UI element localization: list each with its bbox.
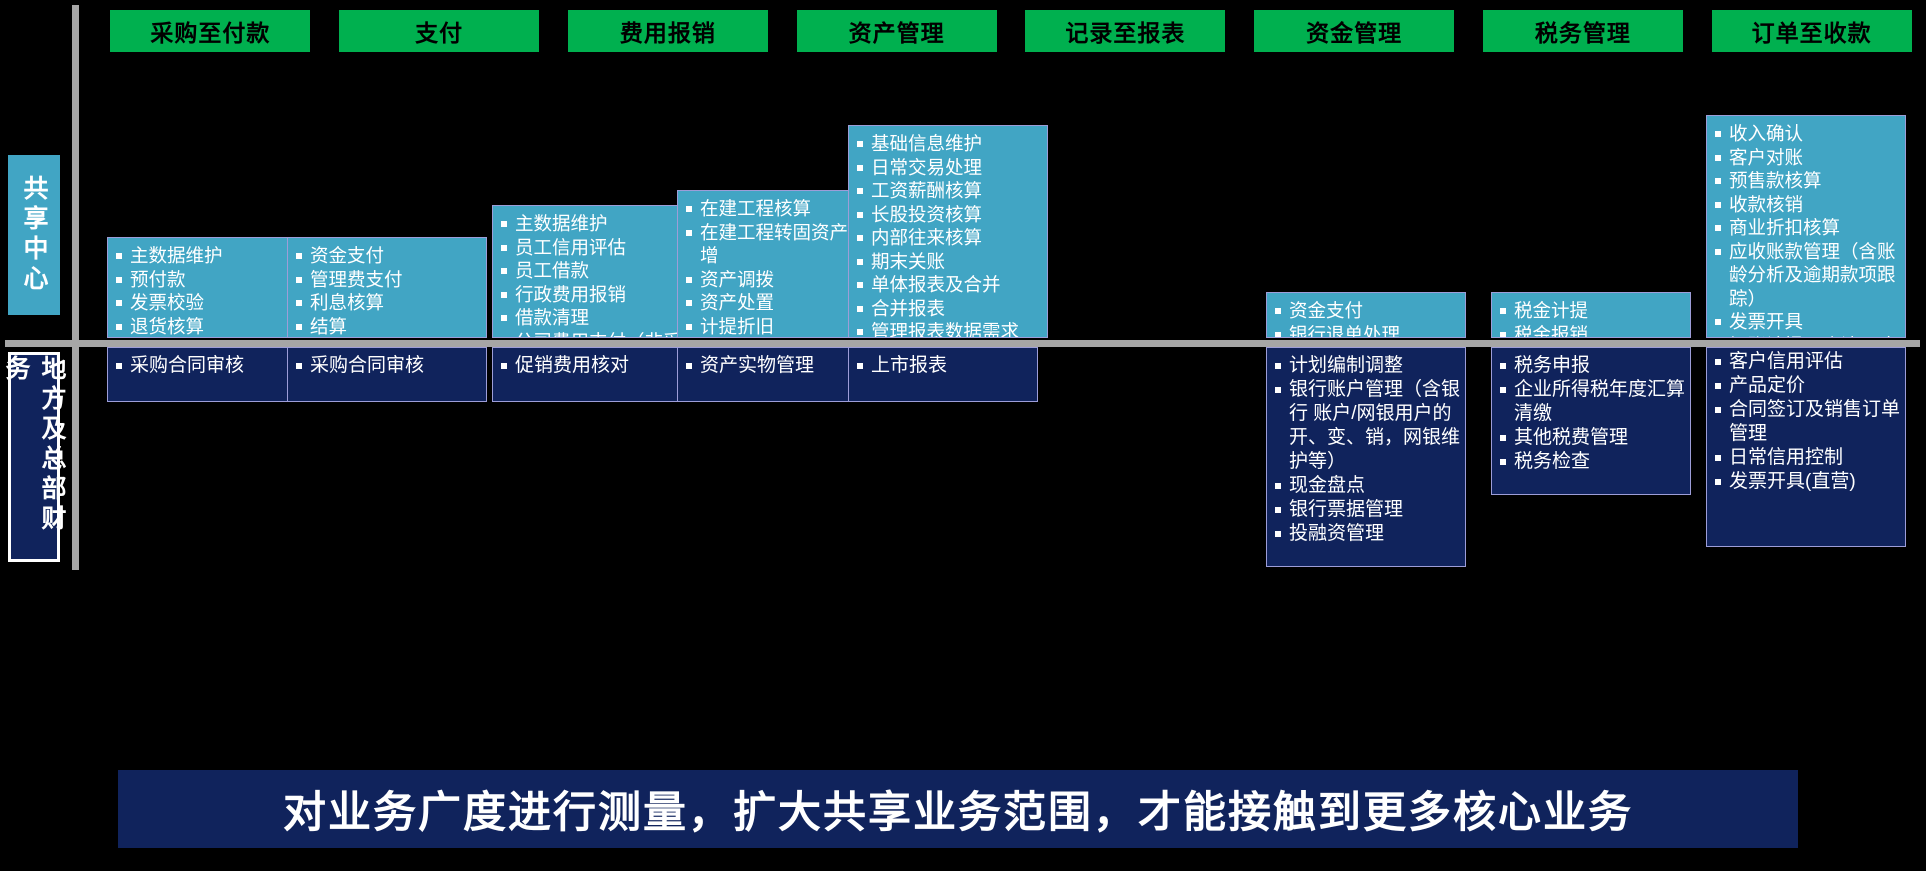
list-item: 其他税费管理: [1498, 426, 1686, 450]
shared-center-panel-payment[interactable]: 资金支付 管理费支付 利息核算 结算: [287, 237, 487, 338]
local-hq-item-list: 采购合同审核: [294, 354, 482, 378]
list-item: 发票校验: [114, 291, 302, 315]
row-label-shared-center: 共享中心: [8, 155, 60, 315]
local-hq-panel-record-to-report[interactable]: 上市报表: [848, 347, 1038, 402]
shared-center-item-list: 税金计提 税金报销 标准化格式税 务报表: [1498, 299, 1686, 338]
process-header-treasury-management[interactable]: 资金管理: [1254, 10, 1454, 52]
process-header-payment[interactable]: 支付: [339, 10, 539, 52]
process-header-cell-3: 费用报销: [558, 8, 779, 53]
list-item: 退货核算: [114, 315, 302, 339]
list-item: 促销费用核对: [499, 354, 687, 378]
vertical-axis-line: [72, 5, 79, 570]
list-item: 预付款: [114, 268, 302, 292]
process-header-cell-7: 税务管理: [1473, 8, 1694, 53]
shared-center-panel-treasury-management[interactable]: 资金支付 银行退单处理 资金收款确认 银行对账: [1266, 292, 1466, 338]
shared-center-item-list: 在建工程核算 在建工程转固资产新增 资产调拨 资产处置 计提折旧 减值准备 资产…: [684, 197, 872, 338]
list-item: 坏账计提、确认及冲销核算: [1713, 334, 1901, 339]
list-item: 计划编制调整: [1273, 354, 1461, 378]
shared-center-item-list: 收入确认 客户对账 预售款核算 收款核销 商业折扣核算 应收账款管理（含账龄分析…: [1713, 122, 1901, 338]
local-hq-item-list: 采购合同审核: [114, 354, 302, 378]
process-header-expense-reimbursement[interactable]: 费用报销: [568, 10, 768, 52]
shared-center-panel-purchase-to-pay[interactable]: 主数据维护 预付款 发票校验 退货核算 应付支付 供应商对账: [107, 237, 307, 338]
local-hq-item-list: 促销费用核对: [499, 354, 687, 378]
conclusion-banner-text: 对业务广度进行测量，扩大共享业务范围，才能接触到更多核心业务: [283, 778, 1633, 840]
list-item: 采购合同审核: [294, 354, 482, 378]
shared-center-item-list: 主数据维护 预付款 发票校验 退货核算 应付支付 供应商对账: [114, 244, 302, 338]
local-hq-item-list: 税务申报 企业所得税年度汇算清缴 其他税费管理 税务检查: [1498, 354, 1686, 474]
list-item: 发票开具(直营): [1713, 470, 1901, 494]
local-hq-item-list: 资产实物管理: [684, 354, 872, 378]
list-item: 发票开具: [1713, 310, 1901, 334]
shared-center-item-list: 资金支付 管理费支付 利息核算 结算: [294, 244, 482, 338]
local-hq-panel-tax-management[interactable]: 税务申报 企业所得税年度汇算清缴 其他税费管理 税务检查: [1491, 347, 1691, 495]
process-header-order-to-cash[interactable]: 订单至收款: [1712, 10, 1912, 52]
process-header-record-to-report[interactable]: 记录至报表: [1025, 10, 1225, 52]
local-hq-item-list: 客户信用评估 产品定价 合同签订及销售订单管理 日常信用控制 发票开具(直营): [1713, 350, 1901, 494]
local-hq-panel-treasury-management[interactable]: 计划编制调整 银行账户管理（含银行 账户/网银用户的 开、变、销，网银维护等） …: [1266, 347, 1466, 567]
shared-center-panel-expense-reimbursement[interactable]: 主数据维护 员工信用评估 员工借款 行政费用报销 借款清理 公司费用支付（非采购…: [492, 205, 692, 338]
shared-center-item-list: 基础信息维护 日常交易处理 工资薪酬核算 长股投资核算 内部往来核算 期末关账 …: [855, 132, 1043, 338]
shared-center-item-list: 资金支付 银行退单处理 资金收款确认 银行对账: [1273, 299, 1461, 338]
shared-center-panel-tax-management[interactable]: 税金计提 税金报销 标准化格式税 务报表: [1491, 292, 1691, 338]
list-item: 预售款核算: [1713, 169, 1901, 193]
list-item: 员工借款: [499, 259, 687, 283]
conclusion-banner: 对业务广度进行测量，扩大共享业务范围，才能接触到更多核心业务: [118, 770, 1798, 848]
process-header-tax-management[interactable]: 税务管理: [1483, 10, 1683, 52]
row-label-local-hq-finance: 地方及总部财务: [8, 352, 60, 562]
list-item: 税金报销: [1498, 323, 1686, 339]
list-item: 日常信用控制: [1713, 446, 1901, 470]
shared-center-panel-asset-management[interactable]: 在建工程核算 在建工程转固资产新增 资产调拨 资产处置 计提折旧 减值准备 资产…: [677, 190, 877, 338]
list-item: 内部往来核算: [855, 226, 1043, 250]
list-item: 在建工程核算: [684, 197, 872, 221]
list-item: 银行账户管理（含银行 账户/网银用户的 开、变、销，网银维护等）: [1273, 378, 1461, 474]
list-item: 上市报表: [855, 354, 1033, 378]
list-item: 收款核销: [1713, 193, 1901, 217]
list-item: 产品定价: [1713, 374, 1901, 398]
list-item: 商业折扣核算: [1713, 216, 1901, 240]
list-item: 应收账款管理（含账龄分析及逾期款项跟踪）: [1713, 240, 1901, 311]
list-item: 主数据维护: [499, 212, 687, 236]
local-hq-panel-purchase-to-pay[interactable]: 采购合同审核: [107, 347, 307, 402]
shared-center-panel-order-to-cash[interactable]: 收入确认 客户对账 预售款核算 收款核销 商业折扣核算 应收账款管理（含账龄分析…: [1706, 115, 1906, 338]
process-header-purchase-to-pay[interactable]: 采购至付款: [110, 10, 310, 52]
list-item: 采购合同审核: [114, 354, 302, 378]
list-item: 资产处置: [684, 291, 872, 315]
local-hq-item-list: 计划编制调整 银行账户管理（含银行 账户/网银用户的 开、变、销，网银维护等） …: [1273, 354, 1461, 546]
shared-center-item-list: 主数据维护 员工信用评估 员工借款 行政费用报销 借款清理 公司费用支付（非采购…: [499, 212, 687, 338]
local-hq-panel-order-to-cash[interactable]: 客户信用评估 产品定价 合同签订及销售订单管理 日常信用控制 发票开具(直营): [1706, 347, 1906, 547]
row-label-local-hq-finance-text: 地方及总部财务: [0, 355, 70, 559]
process-header-cell-1: 采购至付款: [100, 8, 321, 53]
process-header-cell-5: 记录至报表: [1015, 8, 1236, 53]
horizontal-axis-line: [5, 340, 1920, 347]
list-item: 合并报表: [855, 297, 1043, 321]
list-item: 管理费支付: [294, 268, 482, 292]
local-hq-panel-expense-reimbursement[interactable]: 促销费用核对: [492, 347, 692, 402]
process-header-cell-2: 支付: [329, 8, 550, 53]
list-item: 单体报表及合并: [855, 273, 1043, 297]
list-item: 管理报表数据需求: [855, 320, 1043, 338]
local-hq-panel-asset-management[interactable]: 资产实物管理: [677, 347, 877, 402]
list-item: 结算: [294, 315, 482, 339]
list-item: 税金计提: [1498, 299, 1686, 323]
list-item: 企业所得税年度汇算清缴: [1498, 378, 1686, 426]
list-item: 长股投资核算: [855, 203, 1043, 227]
list-item: 收入确认: [1713, 122, 1901, 146]
list-item: 资金支付: [294, 244, 482, 268]
list-item: 工资薪酬核算: [855, 179, 1043, 203]
list-item: 行政费用报销: [499, 283, 687, 307]
list-item: 资产实物管理: [684, 354, 872, 378]
list-item: 银行退单处理: [1273, 323, 1461, 339]
process-header-asset-management[interactable]: 资产管理: [797, 10, 997, 52]
list-item: 公司费用支付（非采购合同类）: [499, 330, 687, 339]
list-item: 利息核算: [294, 291, 482, 315]
list-item: 银行票据管理: [1273, 498, 1461, 522]
process-header-cell-4: 资产管理: [786, 8, 1007, 53]
list-item: 客户信用评估: [1713, 350, 1901, 374]
list-item: 合同签订及销售订单管理: [1713, 398, 1901, 446]
list-item: 计提折旧: [684, 315, 872, 339]
list-item: 税务检查: [1498, 450, 1686, 474]
process-header-cell-6: 资金管理: [1244, 8, 1465, 53]
list-item: 期末关账: [855, 250, 1043, 274]
list-item: 借款清理: [499, 306, 687, 330]
list-item: 投融资管理: [1273, 522, 1461, 546]
list-item: 基础信息维护: [855, 132, 1043, 156]
local-hq-item-list: 上市报表: [855, 354, 1033, 378]
list-item: 资产调拨: [684, 268, 872, 292]
slide-canvas: 采购至付款 支付 费用报销 资产管理 记录至报表 资金管理 税务管理 订单至收款…: [0, 0, 1926, 871]
list-item: 员工信用评估: [499, 236, 687, 260]
shared-center-panel-record-to-report[interactable]: 基础信息维护 日常交易处理 工资薪酬核算 长股投资核算 内部往来核算 期末关账 …: [848, 125, 1048, 338]
local-hq-panel-payment[interactable]: 采购合同审核: [287, 347, 487, 402]
row-label-shared-center-text: 共享中心: [16, 175, 52, 295]
list-item: 资金支付: [1273, 299, 1461, 323]
list-item: 主数据维护: [114, 244, 302, 268]
list-item: 日常交易处理: [855, 156, 1043, 180]
list-item: 现金盘点: [1273, 474, 1461, 498]
process-header-cell-8: 订单至收款: [1701, 8, 1922, 53]
list-item: 税务申报: [1498, 354, 1686, 378]
list-item: 在建工程转固资产新增: [684, 221, 872, 268]
list-item: 客户对账: [1713, 146, 1901, 170]
process-header-band: 采购至付款 支付 费用报销 资产管理 记录至报表 资金管理 税务管理 订单至收款: [100, 8, 1922, 53]
